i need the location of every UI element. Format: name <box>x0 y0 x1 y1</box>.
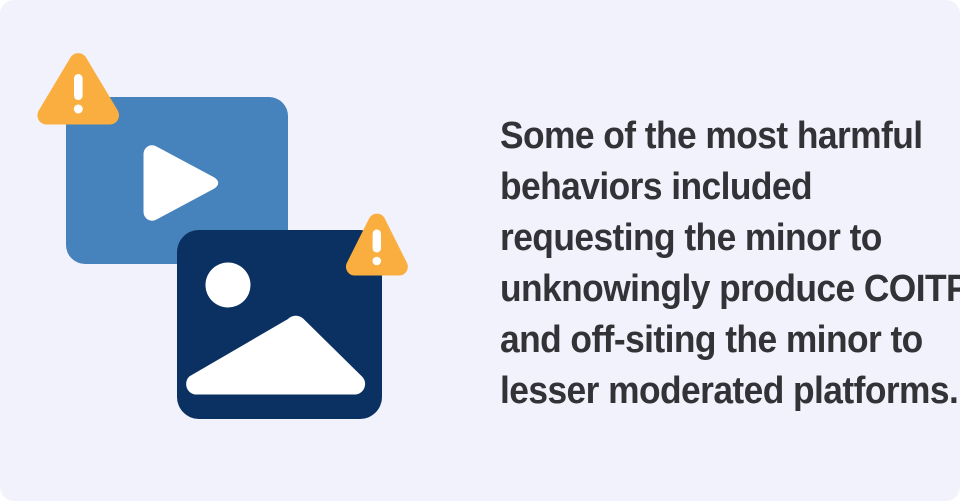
flagged-media-illustration <box>0 0 440 501</box>
quote-line: behaviors included <box>500 162 920 213</box>
quote-line: unknowingly produce COITP <box>500 264 920 315</box>
quote-line: and off-siting the minor to <box>500 315 920 366</box>
sun-circle-icon <box>206 263 251 308</box>
exclamation-mark-icon <box>373 230 382 266</box>
quote-line: lesser moderated platforms. <box>500 366 920 417</box>
quote-text: Some of the most harmful behaviors inclu… <box>500 111 952 417</box>
quote-line: requesting the minor to <box>500 213 920 264</box>
exclamation-mark-icon <box>74 74 83 114</box>
quote-line: Some of the most harmful <box>500 111 920 162</box>
warning-triangle-icon <box>37 53 119 124</box>
slide-canvas: Some of the most harmful behaviors inclu… <box>0 0 960 501</box>
